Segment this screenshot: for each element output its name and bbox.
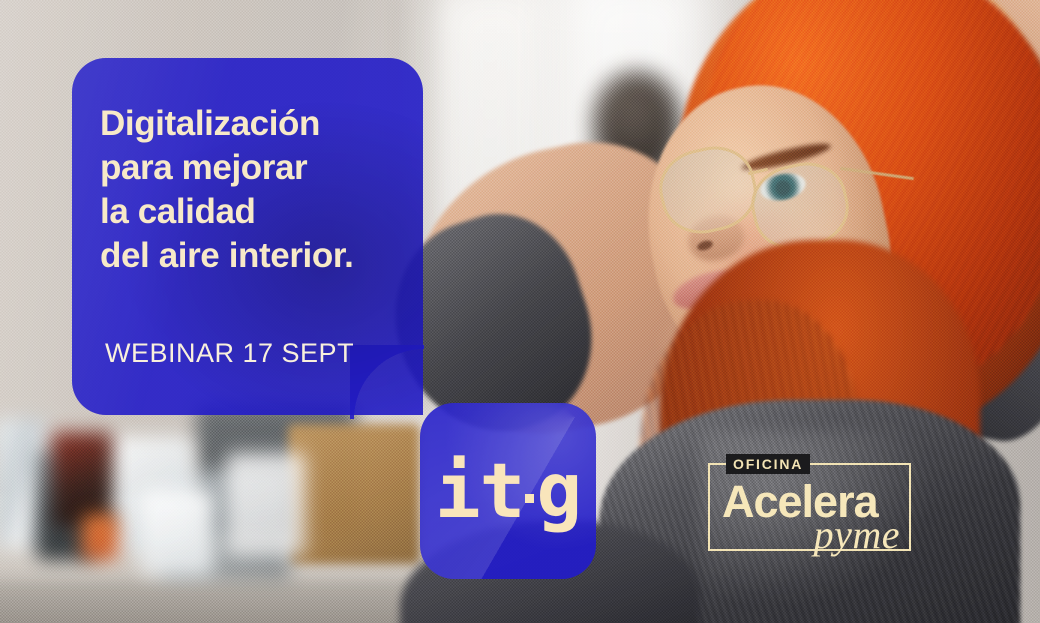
headline: Digitalización para mejorar la calidad d… [100,102,420,278]
badge-oficina-label: OFICINA [726,454,810,474]
itg-logo-it: it [435,453,525,529]
webinar-banner: Digitalización para mejorar la calidad d… [0,0,1040,623]
badge-pyme-label: pyme [814,515,900,555]
itg-logo-dot-icon [525,494,534,503]
webinar-date-kicker: WEBINAR 17 SEPT [105,338,354,369]
itg-logo: it g [435,453,581,529]
headline-line-2: para mejorar [100,146,420,190]
headline-panel: Digitalización para mejorar la calidad d… [72,58,423,415]
headline-line-3: la calidad [100,190,420,234]
headline-line-1: Digitalización [100,102,420,146]
itg-logo-panel[interactable]: it g [420,403,596,579]
headline-line-4: del aire interior. [100,234,420,278]
acelera-pyme-badge[interactable]: OFICINA Acelera pyme [708,463,911,551]
itg-logo-g: g [536,453,581,529]
